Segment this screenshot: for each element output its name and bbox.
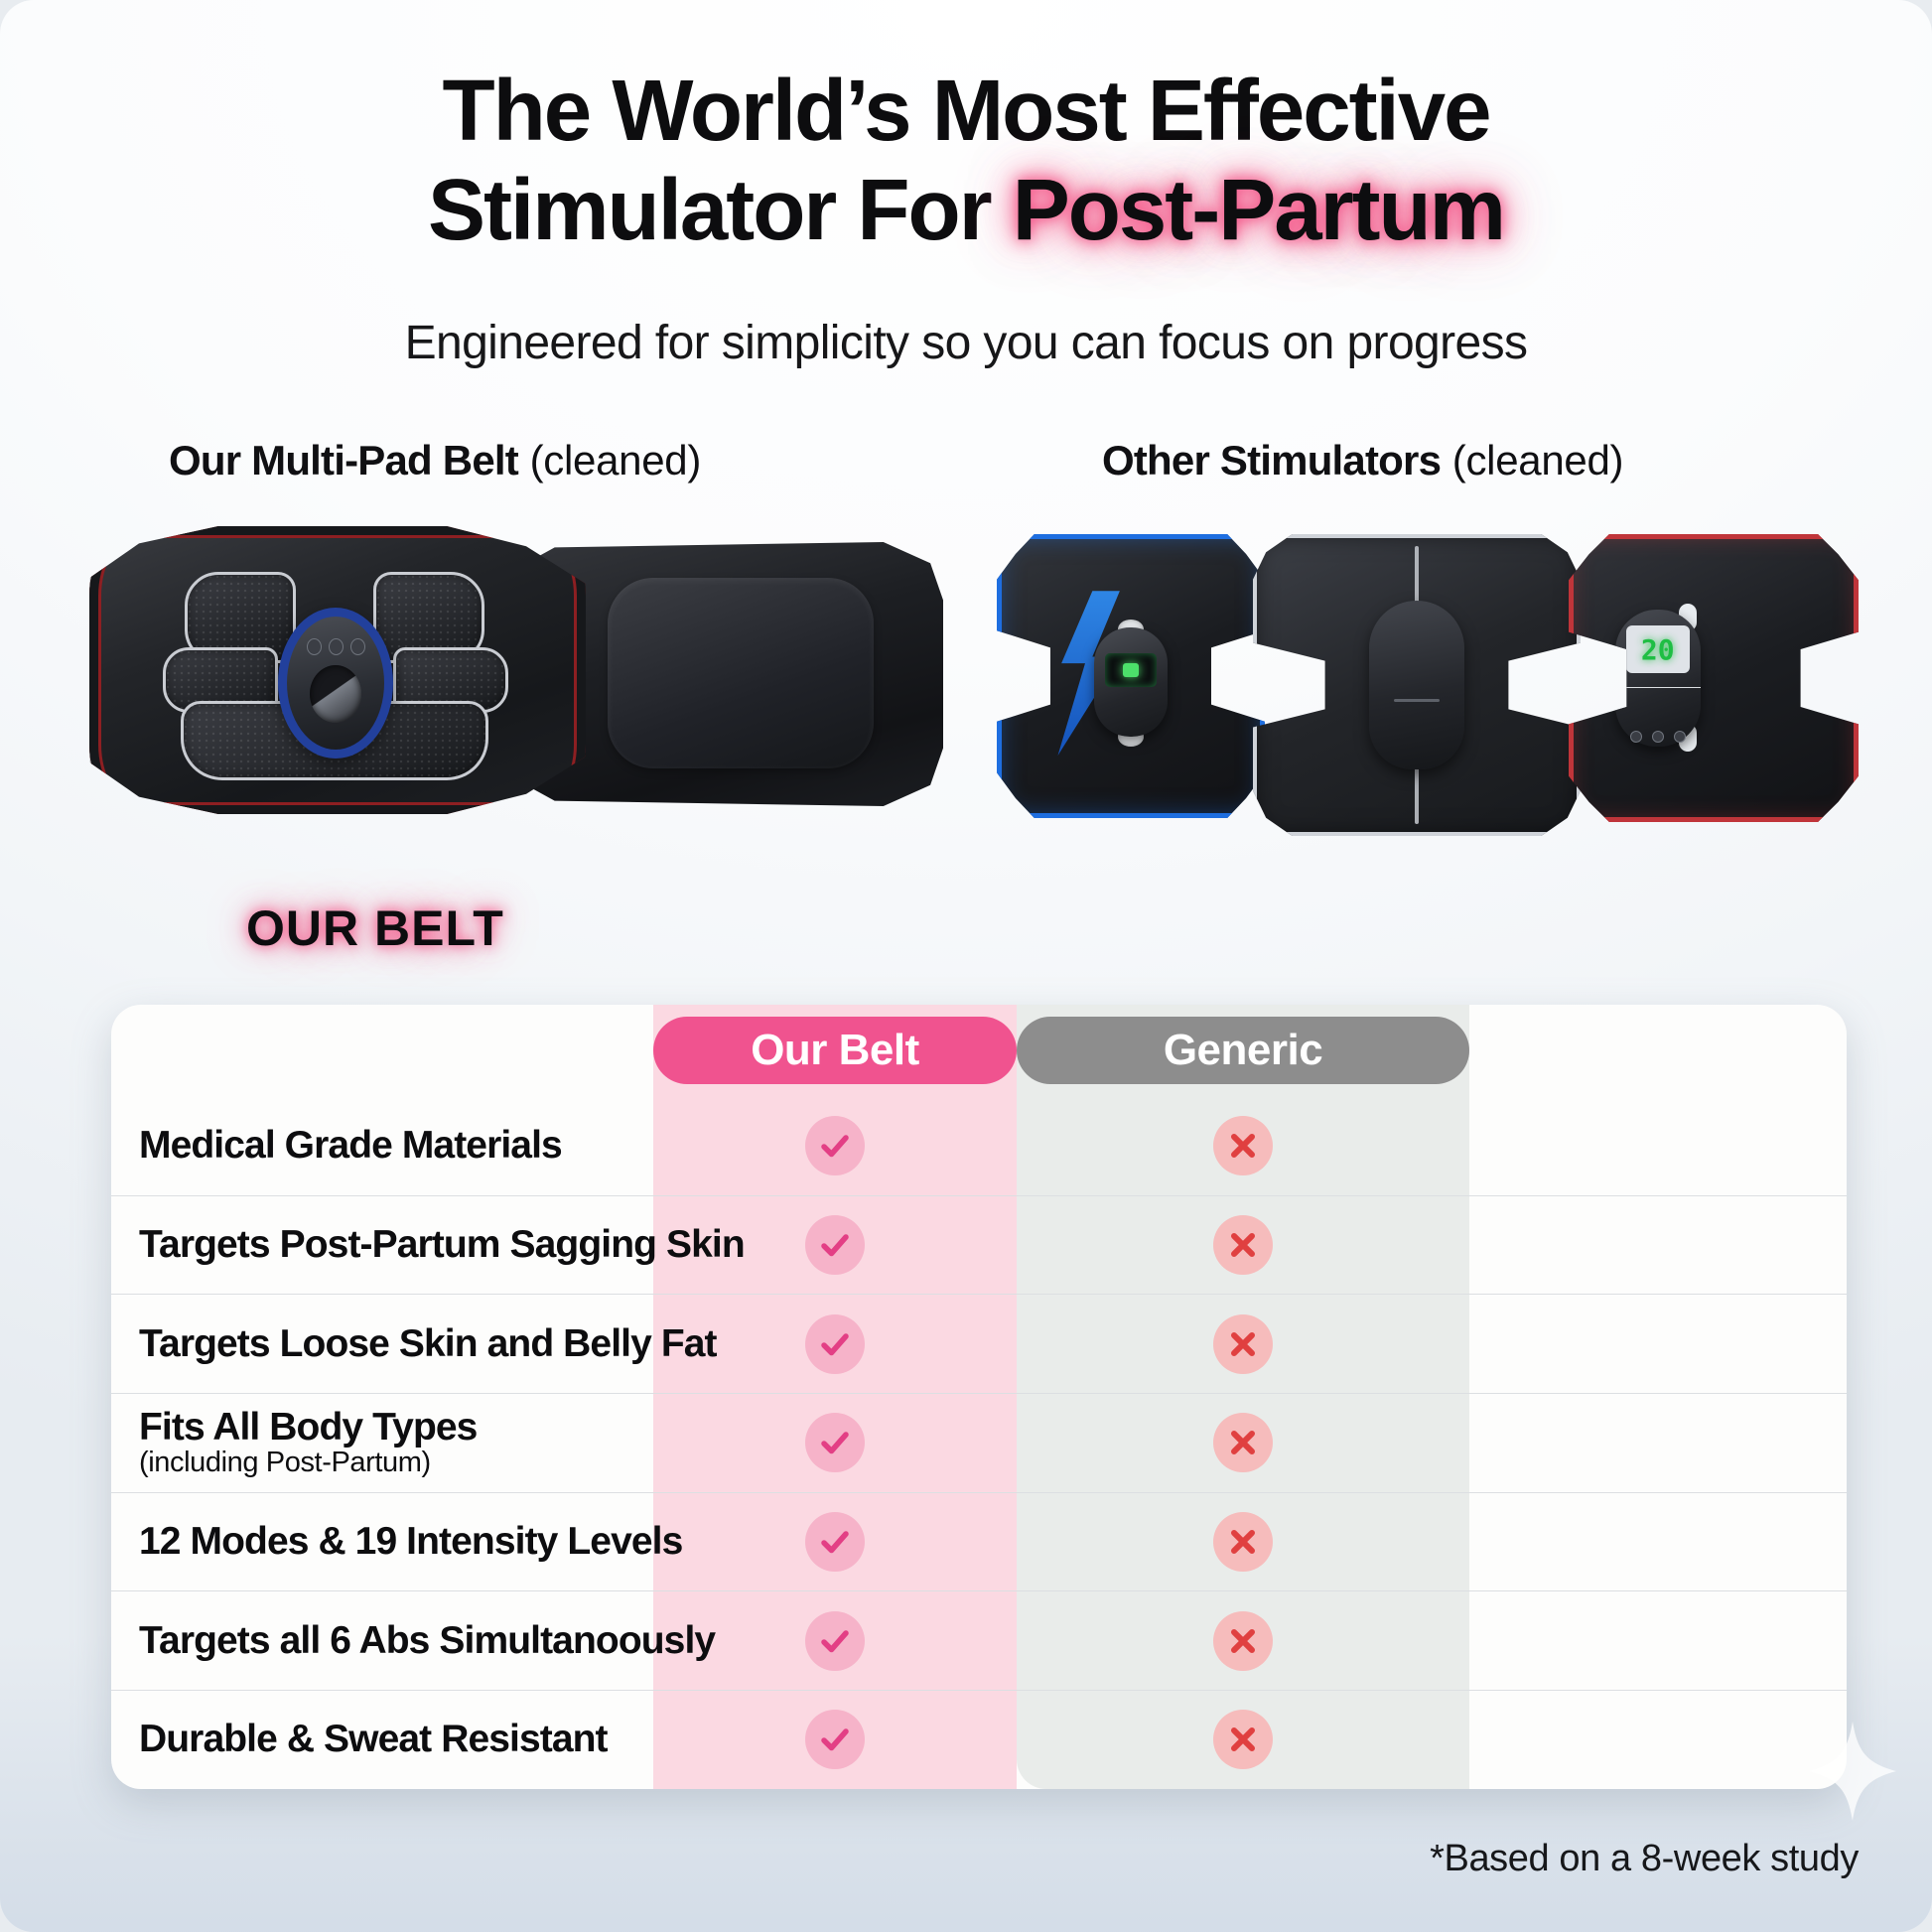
cross-icon (1213, 1116, 1273, 1175)
belt-dial-icon (310, 665, 361, 723)
table-row: Fits All Body Types(including Post-Partu… (111, 1393, 1847, 1492)
comparison-rows: Medical Grade MaterialsTargets Post-Part… (111, 1096, 1847, 1789)
feature-sublabel: (including Post-Partum) (139, 1447, 477, 1479)
generic-red-display-value: 20 (1641, 633, 1675, 666)
feature-label: Targets Post-Partum Sagging Skin (139, 1223, 745, 1267)
generic-blue-control-unit (1094, 627, 1168, 737)
generic-gray-body (1253, 534, 1581, 836)
generic-red-control-unit: 20 (1615, 610, 1701, 747)
intensity-button-icon (350, 638, 365, 655)
table-row: Durable & Sweat Resistant (111, 1690, 1847, 1789)
headline-accent-text: Post-Partum (1013, 162, 1504, 258)
headline-line-2: Stimulator For Post-Partum (0, 161, 1932, 260)
headline-line-2-plain: Stimulator For (428, 162, 1013, 258)
feature-label: Targets all 6 Abs Simultanoously (139, 1619, 715, 1663)
up-button-icon (1674, 731, 1686, 743)
generic-red-display: 20 (1626, 625, 1690, 673)
footnote-text: *Based on a 8-week study (1430, 1838, 1859, 1880)
column-header-ours: Our Belt (653, 1017, 1017, 1084)
sparkle-icon (1809, 1722, 1896, 1821)
mode-button-icon (329, 638, 344, 655)
generic-red-body: 20 (1569, 534, 1859, 822)
feature-label: Fits All Body Types(including Post-Partu… (139, 1406, 477, 1479)
cross-icon (1213, 1611, 1273, 1671)
our-belt-caption: OUR BELT (246, 899, 504, 957)
table-row: 12 Modes & 19 Intensity Levels (111, 1492, 1847, 1591)
power-button-icon (307, 638, 322, 655)
check-icon (805, 1314, 865, 1374)
check-icon (805, 1512, 865, 1572)
table-row: Targets Post-Partum Sagging Skin (111, 1195, 1847, 1295)
product-label-ours: Our Multi-Pad Belt (cleaned) (169, 437, 701, 484)
product-image-our-belt (79, 516, 953, 834)
belt-main-panel (89, 526, 586, 814)
feature-label: Durable & Sweat Resistant (139, 1718, 608, 1761)
table-row: Medical Grade Materials (111, 1096, 1847, 1195)
cross-icon (1213, 1512, 1273, 1572)
product-label-other-note: (cleaned) (1452, 437, 1623, 483)
generic-gray-marking (1394, 699, 1440, 702)
check-icon (805, 1710, 865, 1769)
belt-illustration (89, 526, 943, 824)
feature-label: Targets Loose Skin and Belly Fat (139, 1322, 717, 1366)
product-label-ours-note: (cleaned) (530, 437, 701, 483)
column-header-generic: Generic (1017, 1017, 1469, 1084)
generic-stimulator-blue (997, 534, 1265, 818)
table-row: Targets all 6 Abs Simultanoously (111, 1590, 1847, 1690)
cross-icon (1213, 1710, 1273, 1769)
belt-control-buttons (287, 638, 384, 655)
page-title: The World’s Most Effective Stimulator Fo… (0, 62, 1932, 260)
generic-stimulator-red: 20 (1569, 534, 1859, 822)
power-button-icon (1630, 731, 1642, 743)
generic-gray-control-unit (1369, 601, 1464, 769)
table-row: Targets Loose Skin and Belly Fat (111, 1294, 1847, 1393)
check-icon (805, 1116, 865, 1175)
cross-icon (1213, 1215, 1273, 1275)
check-icon (805, 1215, 865, 1275)
cross-icon (1213, 1314, 1273, 1374)
belt-control-unit (278, 608, 393, 759)
feature-label: Medical Grade Materials (139, 1124, 562, 1168)
generic-blue-body (997, 534, 1265, 818)
headline-line-1: The World’s Most Effective (0, 62, 1932, 161)
product-label-other: Other Stimulators (cleaned) (1102, 437, 1623, 484)
infographic-page: The World’s Most Effective Stimulator Fo… (0, 0, 1932, 1932)
cross-icon (1213, 1413, 1273, 1472)
flame-button-icon (1652, 731, 1664, 743)
check-icon (805, 1413, 865, 1472)
product-label-other-name: Other Stimulators (1102, 437, 1441, 483)
feature-label: 12 Modes & 19 Intensity Levels (139, 1520, 682, 1564)
generic-red-buttons (1615, 687, 1701, 786)
comparison-table: Our Belt Generic Medical Grade Materials… (111, 1005, 1847, 1789)
generic-blue-display (1105, 653, 1157, 687)
product-label-ours-name: Our Multi-Pad Belt (169, 437, 518, 483)
page-subtitle: Engineered for simplicity so you can foc… (0, 316, 1932, 370)
product-image-other-stimulators: 20 (993, 516, 1876, 834)
generic-stimulator-gray (1253, 534, 1581, 836)
check-icon (805, 1611, 865, 1671)
